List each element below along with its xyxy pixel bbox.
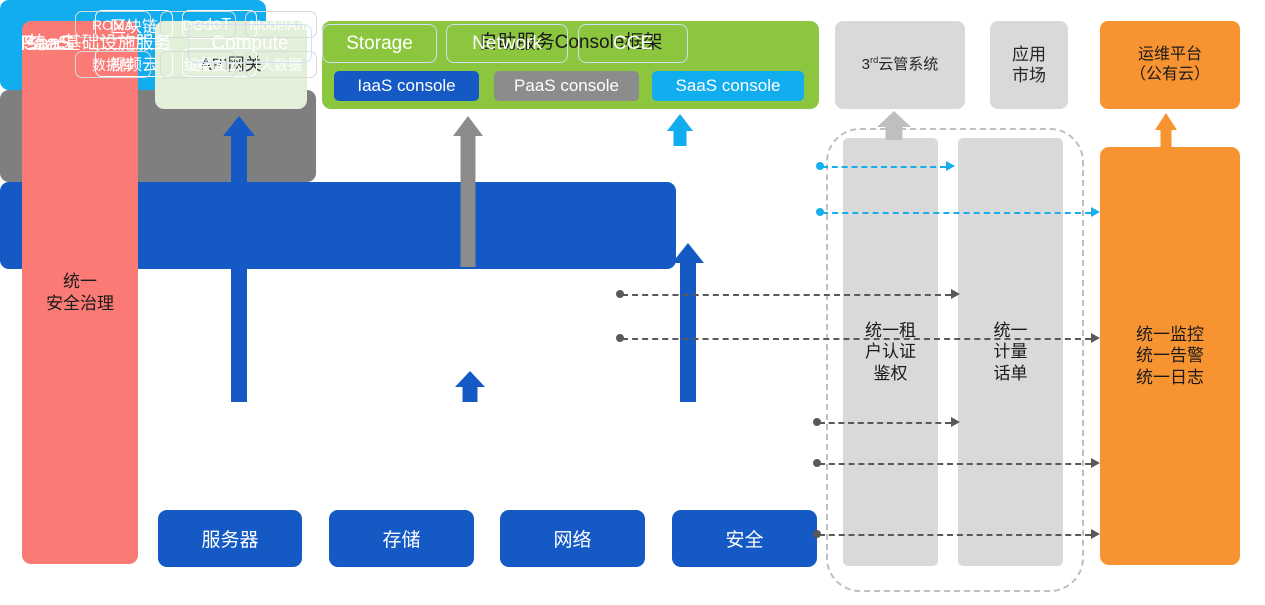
hardware-box-network: 网络: [500, 510, 645, 567]
arrow-infra-to-paas: [462, 371, 477, 402]
unified-security-governance-pillar: 统一 安全治理: [22, 21, 138, 564]
infra-chip-network[interactable]: Network: [446, 24, 568, 63]
app-market-box: 应用 市场: [990, 21, 1068, 109]
connector-hardware-to-ops: [819, 534, 1091, 536]
hardware-box-security: 安全: [672, 510, 817, 567]
infra-chip-cce[interactable]: CCE: [578, 24, 688, 63]
connector-saas-to-ops: [822, 212, 1091, 214]
iaas-console-chip[interactable]: IaaS console: [334, 71, 479, 101]
connector-arrowhead-saas-ops: [1091, 207, 1100, 217]
arrow-paas-to-console: [460, 116, 475, 267]
unified-tenant-auth-column: 统一租 户认证 鉴权: [843, 138, 938, 566]
connector-infra-to-meter: [819, 422, 951, 424]
connector-arrowhead-saas-auth: [946, 161, 955, 171]
infra-label: 统一基础设施服务: [12, 29, 187, 55]
hardware-box-server: 服务器: [158, 510, 302, 567]
connector-arrowhead-hardware-ops: [1091, 529, 1100, 539]
saas-console-chip[interactable]: SaaS console: [652, 71, 804, 101]
paas-chip-database[interactable]: 数据库: [75, 51, 151, 78]
infra-chip-storage[interactable]: Storage: [322, 24, 437, 63]
architecture-diagram: 统一 安全治理 API网关 自助服务Console框架 IaaS console…: [0, 0, 1265, 605]
arrow-shared-to-third-cloud: [885, 111, 902, 140]
ops-platform-box: 运维平台 （公有云）: [1100, 21, 1240, 109]
connector-arrowhead-paas-meter: [951, 289, 960, 299]
unified-metering-column: 统一 计量 话单: [958, 138, 1063, 566]
connector-paas-to-meter: [622, 294, 951, 296]
connector-infra-to-ops: [819, 463, 1091, 465]
connector-paas-to-ops: [622, 338, 1091, 340]
connector-arrowhead-infra-meter: [951, 417, 960, 427]
infra-chip-compute[interactable]: Compute: [188, 24, 312, 63]
connector-arrowhead-paas-ops: [1091, 333, 1100, 343]
connector-arrowhead-infra-ops: [1091, 458, 1100, 468]
arrow-saas-to-console: [673, 114, 686, 146]
hardware-box-storage: 存储: [329, 510, 474, 567]
connector-saas-to-auth: [822, 166, 946, 168]
arrow-infra-to-api-gateway: [231, 116, 247, 402]
unified-monitoring-column: 统一监控 统一告警 统一日志: [1100, 147, 1240, 565]
arrow-infra-to-saas: [680, 243, 696, 402]
paas-console-chip[interactable]: PaaS console: [494, 71, 639, 101]
arrow-ops-column-to-ops-platform: [1160, 113, 1171, 148]
third-party-cloud-mgmt-box: 3rd云管系统: [835, 21, 965, 109]
third-cloud-label: 3rd云管系统: [862, 55, 939, 75]
